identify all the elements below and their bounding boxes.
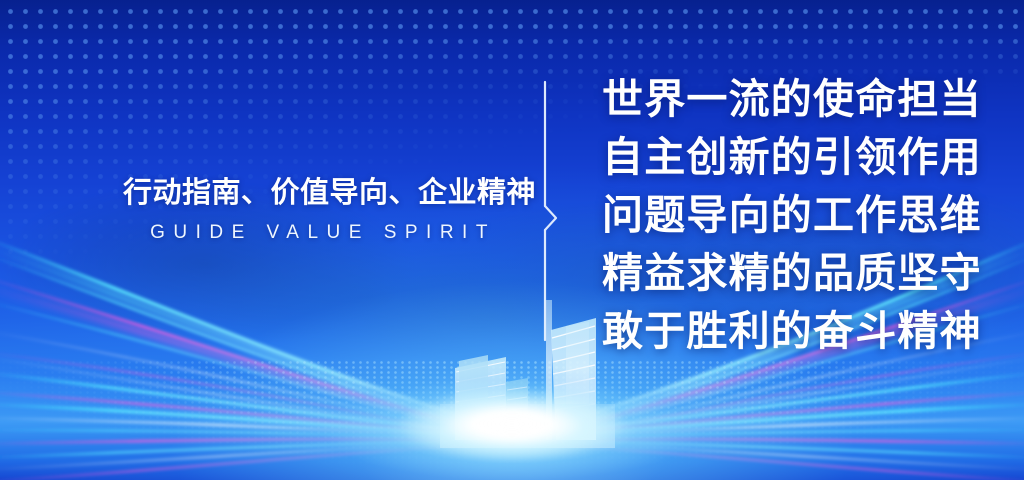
section-divider [525, 80, 569, 342]
right-text-block: 世界一流的使命担当 自主创新的引领作用 问题导向的工作思维 精益求精的品质坚守 … [602, 70, 972, 360]
left-heading: 行动指南、价值导向、企业精神 [123, 176, 523, 212]
chevron-right-icon [545, 206, 556, 230]
perspective-ground-grid [0, 360, 1024, 480]
slogan-line-2: 自主创新的引领作用 [602, 128, 972, 186]
divider-line [545, 82, 556, 340]
slogan-line-4: 精益求精的品质坚守 [602, 244, 972, 302]
left-text-block: 行动指南、价值导向、企业精神 GUIDE VALUE SPIRIT [123, 176, 523, 244]
core-light-glow [232, 355, 792, 480]
left-subheading: GUIDE VALUE SPIRIT [123, 222, 523, 244]
core-light-hotspot [397, 387, 627, 461]
slogan-line-3: 问题导向的工作思维 [602, 186, 972, 244]
culture-banner: 行动指南、价值导向、企业精神 GUIDE VALUE SPIRIT 世界一流的使… [0, 0, 1024, 480]
slogan-line-1: 世界一流的使命担当 [602, 70, 972, 128]
slogan-line-5: 敢于胜利的奋斗精神 [602, 302, 972, 360]
